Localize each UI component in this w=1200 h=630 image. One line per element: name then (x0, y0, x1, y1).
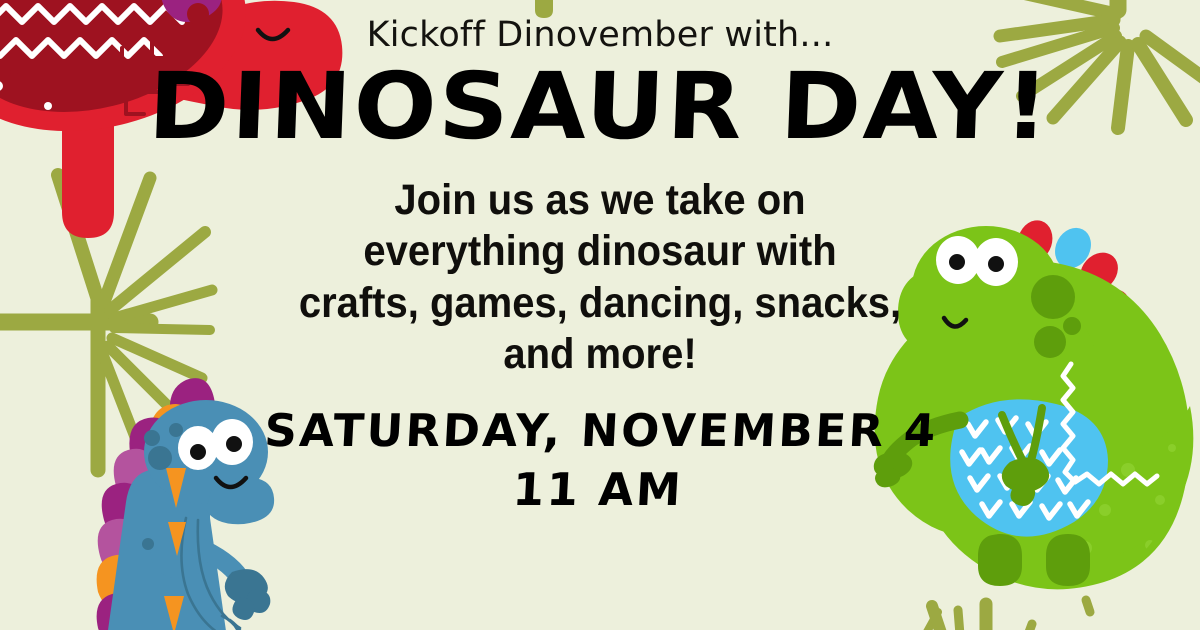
description-line-4: and more! (256, 329, 944, 381)
poster-canvas: Kickoff Dinovember with... DINOSAUR DAY!… (0, 0, 1200, 630)
description-line-2: everything dinosaur with (256, 226, 944, 278)
poster-text-content: Kickoff Dinovember with... DINOSAUR DAY!… (0, 0, 1200, 630)
description-line-1: Join us as we take on (256, 175, 944, 227)
event-date: SATURDAY, NOVEMBER 4 (263, 401, 939, 460)
description-line-3: crafts, games, dancing, snacks, (256, 278, 944, 330)
kicker-line: Kickoff Dinovember with... (367, 16, 834, 55)
description-block: Join us as we take on everything dinosau… (256, 175, 944, 381)
page-title: DINOSAUR DAY! (147, 61, 1053, 153)
event-time: 11 AM (260, 460, 936, 519)
event-datetime-block: SATURDAY, NOVEMBER 4 11 AM (260, 401, 939, 520)
